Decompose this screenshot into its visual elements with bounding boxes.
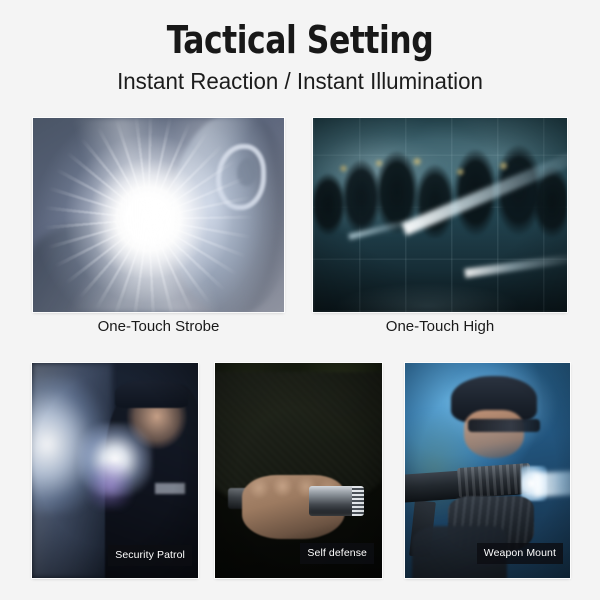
caption-one-touch-strobe: One-Touch Strobe xyxy=(33,318,284,336)
page-subtitle: Instant Reaction / Instant Illumination xyxy=(9,66,591,96)
label-security-patrol: Security Patrol xyxy=(108,545,192,566)
image-self-defense: Self defense xyxy=(215,363,382,578)
image-weapon-mount: Weapon Mount xyxy=(405,363,570,578)
label-self-defense: Self defense xyxy=(300,543,374,564)
strobe-lens-streaks xyxy=(33,118,284,312)
image-one-touch-high xyxy=(313,118,567,312)
header: Tactical Setting Instant Reaction / Inst… xyxy=(0,18,600,96)
infographic-page: Tactical Setting Instant Reaction / Inst… xyxy=(0,0,600,600)
high-vignette xyxy=(313,118,567,312)
image-security-patrol: Security Patrol xyxy=(32,363,198,578)
page-title: Tactical Setting xyxy=(24,18,576,62)
caption-one-touch-high: One-Touch High xyxy=(313,318,567,336)
image-one-touch-strobe xyxy=(33,118,284,312)
label-weapon-mount: Weapon Mount xyxy=(477,543,563,564)
